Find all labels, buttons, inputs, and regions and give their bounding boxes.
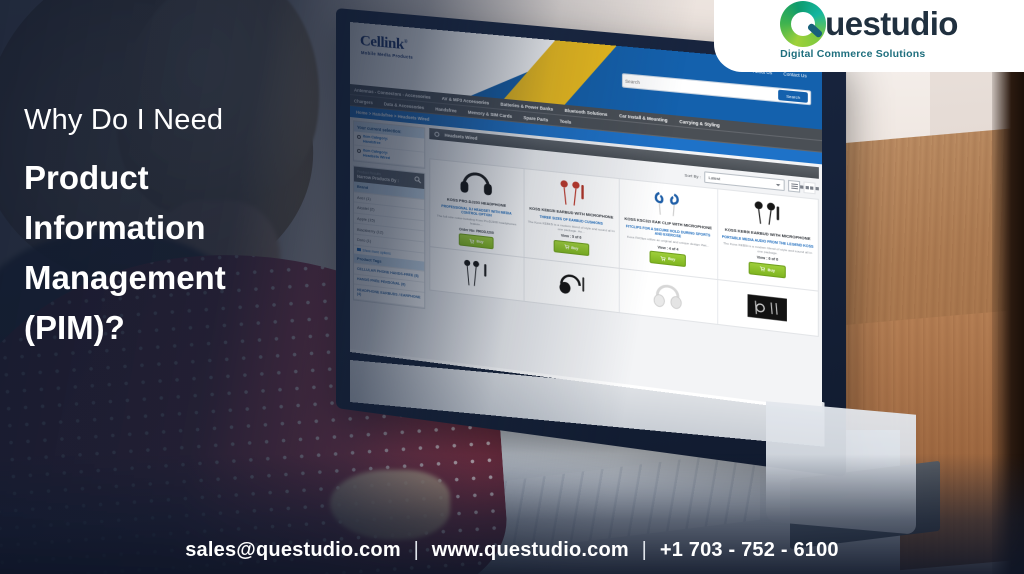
footer-email[interactable]: sales@questudio.com [185, 539, 401, 561]
questudio-brand-text: uestudio [825, 5, 958, 43]
headline-line-product: Product [24, 153, 354, 203]
footer-website[interactable]: www.questudio.com [432, 539, 629, 561]
footer-separator: | [414, 539, 419, 561]
headline-line-management: Management [24, 253, 354, 303]
questudio-tagline: Digital Commerce Solutions [780, 48, 958, 60]
headline-main: Product Information Management (PIM)? [24, 153, 354, 354]
headline-line-information: Information [24, 203, 354, 253]
footer-separator: | [642, 539, 647, 561]
q-circle-icon [780, 1, 826, 47]
headline-block: Why Do I Need Product Information Manage… [24, 104, 354, 354]
headline-line-pim: (PIM)? [24, 303, 354, 353]
questudio-logo-card[interactable]: uestudio Digital Commerce Solutions [714, 0, 1024, 72]
footer-contact-bar: sales@questudio.com | www.questudio.com … [0, 539, 1024, 562]
headline-intro: Why Do I Need [24, 104, 354, 137]
questudio-wordmark: uestudio [780, 1, 958, 47]
questudio-logo: uestudio Digital Commerce Solutions [780, 1, 958, 60]
footer-phone[interactable]: +1 703 - 752 - 6100 [660, 539, 839, 561]
